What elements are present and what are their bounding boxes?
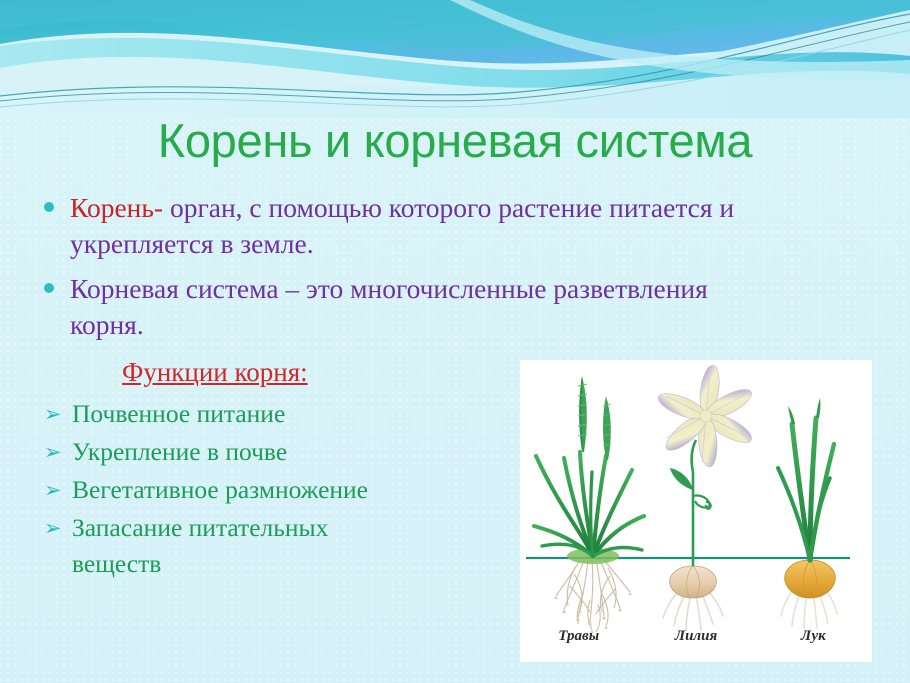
bullet-list: Корень- орган, с помощью которого растен… — [44, 190, 784, 352]
page-title: Корень и корневая система — [0, 113, 910, 169]
decorative-banner — [0, 0, 910, 118]
plant-root-systems-illustration — [520, 360, 872, 662]
bullet-body-text: Корневая система – это многочисленные ра… — [70, 273, 708, 340]
arrow-bullet-icon: ➢ — [44, 396, 72, 432]
functions-item-label: Почвенное питание — [72, 396, 285, 432]
bullet-text: Корневая система – это многочисленные ра… — [70, 271, 784, 343]
functions-list: ➢ Почвенное питание ➢ Укрепление в почве… — [44, 396, 514, 584]
arrow-bullet-icon: ➢ — [44, 434, 72, 470]
list-item: ➢ Вегетативное размножение — [44, 472, 514, 508]
list-item: Корневая система – это многочисленные ра… — [44, 271, 784, 343]
functions-item-label: Укрепление в почве — [72, 434, 287, 470]
list-item: ➢ Почвенное питание — [44, 396, 514, 432]
functions-heading: Функции корня: — [122, 355, 308, 389]
dot-bullet-icon — [44, 190, 70, 212]
list-item: ➢ Запасание питательных веществ — [44, 510, 514, 582]
bullet-text: Корень- орган, с помощью которого растен… — [70, 190, 784, 262]
functions-item-label: Запасание питательных веществ — [72, 510, 328, 582]
list-item: Корень- орган, с помощью которого растен… — [44, 190, 784, 262]
functions-item-label: Вегетативное размножение — [72, 472, 368, 508]
bullet-body-text: орган, с помощью которого растение питае… — [70, 192, 734, 259]
dot-bullet-icon — [44, 271, 70, 293]
arrow-bullet-icon: ➢ — [44, 510, 72, 546]
list-item: ➢ Укрепление в почве — [44, 434, 514, 470]
arrow-bullet-icon: ➢ — [44, 472, 72, 508]
slide: Корень и корневая система Корень- орган,… — [0, 0, 910, 683]
bullet-lead-term: Корень- — [70, 192, 163, 223]
